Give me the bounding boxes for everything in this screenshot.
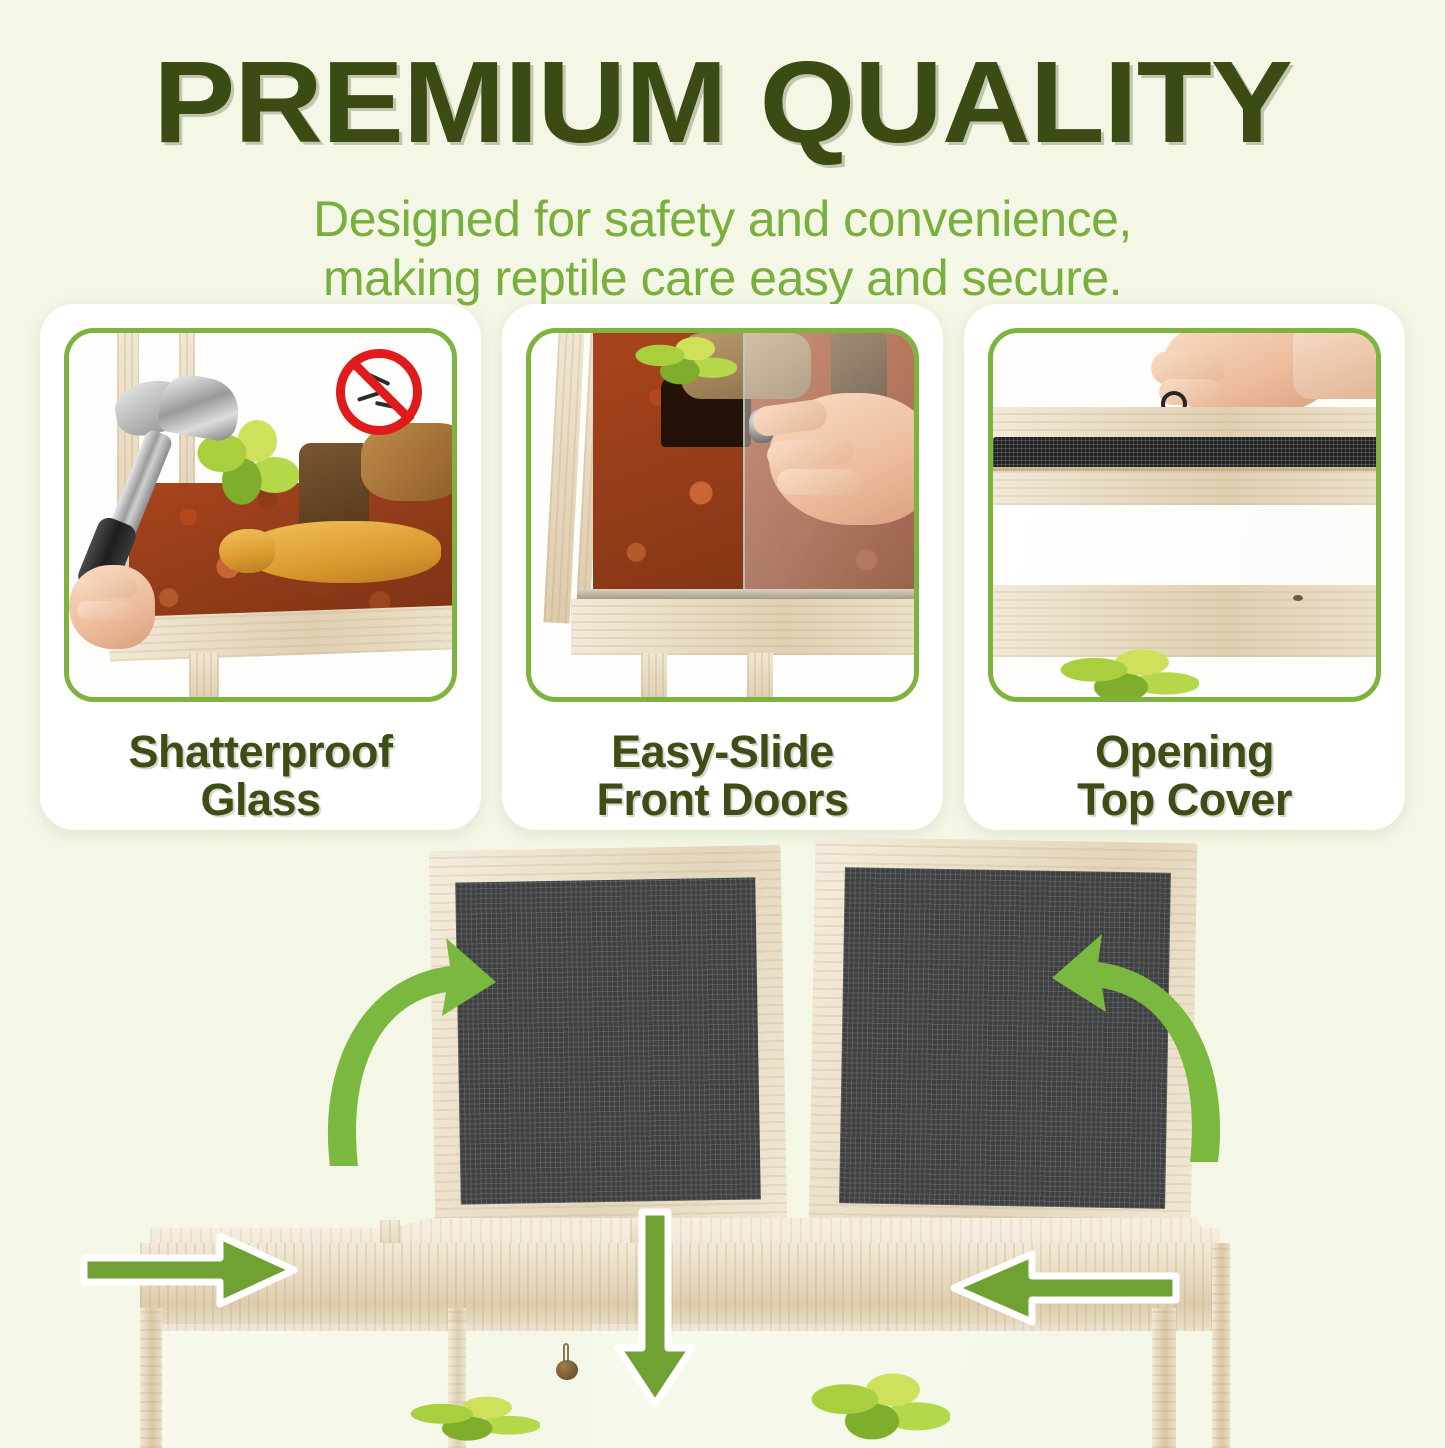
photo-scene: [531, 333, 914, 697]
arrow-top-left: [318, 920, 498, 1170]
cabinet-post-left: [140, 1308, 162, 1448]
feature-label-opening-top-cover: Opening Top Cover: [1077, 728, 1292, 824]
page-title: PREMIUM QUALITY: [0, 44, 1445, 160]
decor-plant-icon: [1049, 645, 1199, 702]
wood-top-rail: [993, 407, 1381, 439]
hammer-head-icon: [156, 371, 243, 444]
feature-label-easy-slide-front-doors: Easy-Slide Front Doors: [597, 728, 849, 824]
feature-card-opening-top-cover[interactable]: Opening Top Cover: [964, 304, 1405, 830]
bearded-dragon-head: [219, 529, 275, 573]
feature-photo-shatterproof-glass: [64, 328, 457, 702]
photo-scene: [69, 333, 452, 697]
finger: [77, 601, 135, 619]
feature-card-row: Shatterproof Glass: [40, 304, 1405, 830]
wood-front-rail: [571, 599, 919, 655]
feature-photo-easy-slide-front-doors: [526, 328, 919, 702]
arrow-center: [610, 1208, 700, 1408]
crack-line: [357, 390, 383, 402]
feature-card-shatterproof-glass[interactable]: Shatterproof Glass: [40, 304, 481, 830]
cabinet-post-right: [1152, 1308, 1176, 1448]
product-photo: [0, 838, 1445, 1445]
header: PREMIUM QUALITY Designed for safety and …: [0, 0, 1445, 308]
arrow-left: [80, 1230, 300, 1310]
cabinet-post-far-right: [1212, 1243, 1230, 1448]
wood-leg: [641, 653, 667, 702]
door-knob-icon[interactable]: [556, 1360, 578, 1380]
subtitle-line-2: making reptile care easy and secure.: [0, 249, 1445, 308]
screw-icon: [1293, 595, 1303, 601]
decor-plant-right: [800, 1368, 950, 1446]
no-crack-icon: [336, 349, 422, 435]
arrow-top-right: [1050, 916, 1230, 1166]
decor-plant-icon: [627, 333, 737, 389]
feature-card-easy-slide-front-doors[interactable]: Easy-Slide Front Doors: [502, 304, 943, 830]
wood-rail: [993, 471, 1381, 505]
feature-label-shatterproof-glass: Shatterproof Glass: [129, 728, 393, 824]
arrow-right: [940, 1248, 1180, 1328]
page-subtitle: Designed for safety and convenience, mak…: [0, 190, 1445, 308]
mesh-top-cover[interactable]: [993, 437, 1381, 469]
feature-photo-opening-top-cover: [988, 328, 1381, 702]
crack-line: [375, 401, 405, 411]
wood-leg: [189, 653, 219, 702]
crack-line: [362, 370, 391, 386]
photo-scene: [993, 333, 1376, 697]
finger: [75, 579, 137, 597]
finger: [777, 469, 861, 495]
left-mesh-screen: [455, 877, 761, 1204]
forearm: [1293, 328, 1381, 399]
decor-plant-left: [400, 1393, 540, 1445]
glass-panel: [993, 505, 1381, 591]
subtitle-line-1: Designed for safety and convenience,: [0, 190, 1445, 249]
wood-leg: [747, 653, 773, 702]
